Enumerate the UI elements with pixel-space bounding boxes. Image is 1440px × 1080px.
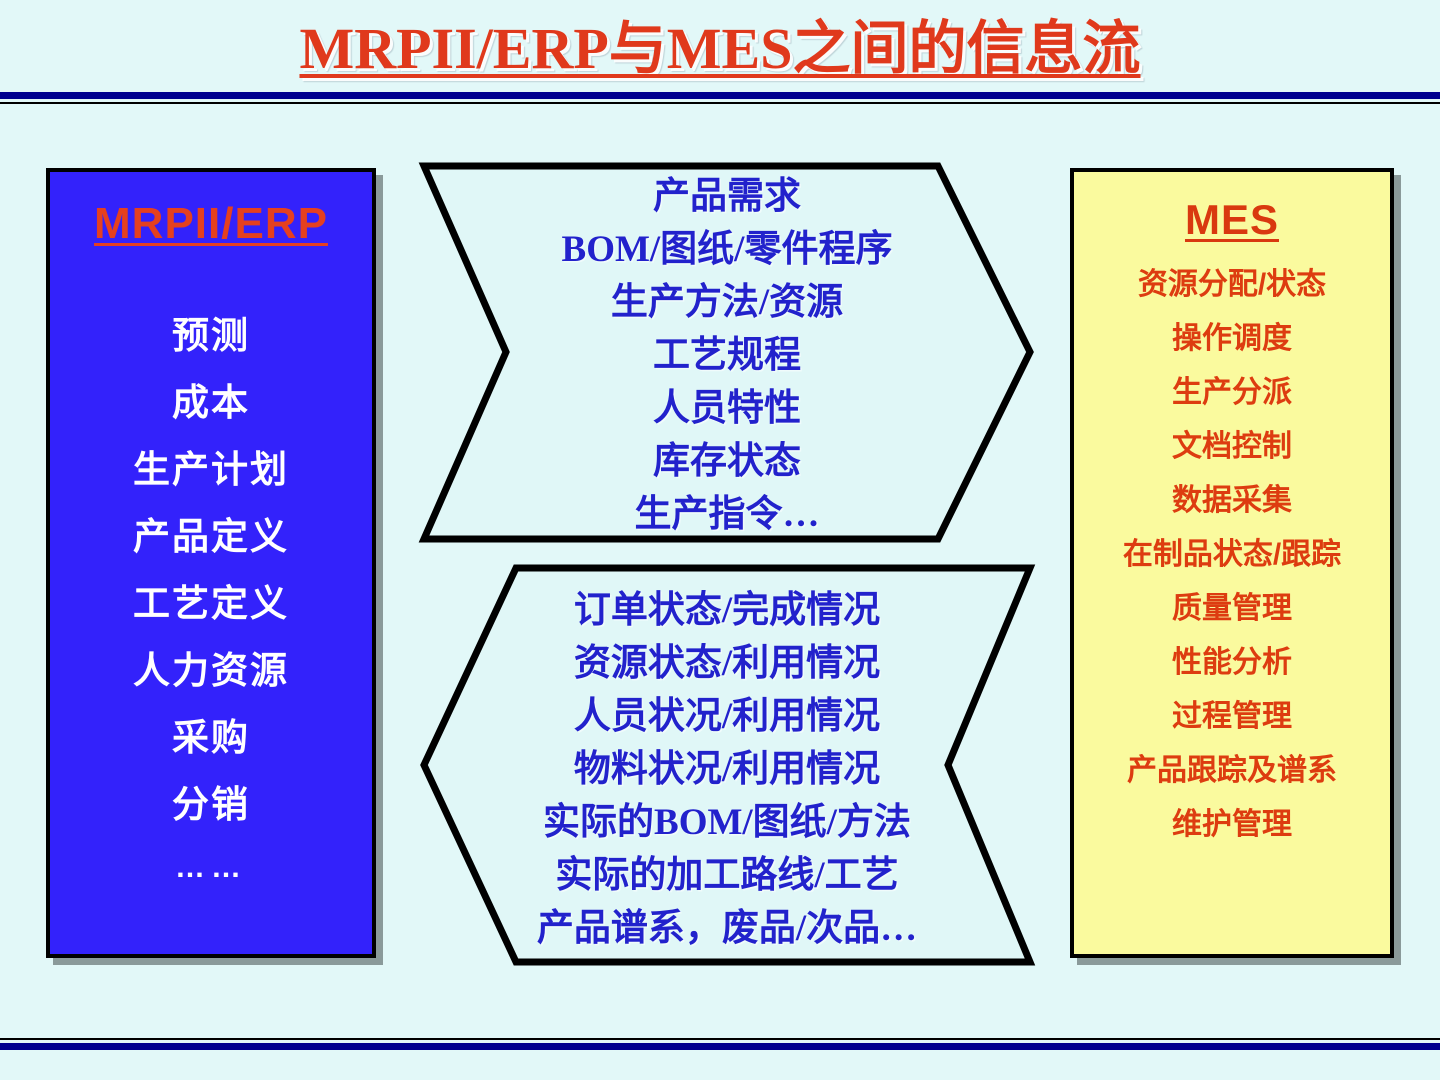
arrow-erp-to-mes-shape [418, 160, 1036, 545]
list-item: 性能分析 [1074, 636, 1390, 690]
mes-function-list: 资源分配/状态 操作调度 生产分派 文档控制 数据采集 在制品状态/跟踪 质量管… [1074, 258, 1390, 852]
arrow-mes-to-erp-shape [418, 562, 1036, 968]
list-item: 成本 [50, 369, 372, 436]
list-item: 文档控制 [1074, 420, 1390, 474]
header-rule-thick [0, 92, 1440, 99]
mrpii-erp-panel: MRPII/ERP 预测 成本 生产计划 产品定义 工艺定义 人力资源 采购 分… [46, 168, 376, 958]
arrow-erp-to-mes: 产品需求 BOM/图纸/零件程序 生产方法/资源 工艺规程 人员特性 库存状态 … [418, 160, 1036, 545]
footer-rule-thick [0, 1043, 1440, 1050]
slide-canvas: MRPII/ERP与MES之间的信息流 MRPII/ERP 预测 成本 生产计划… [0, 0, 1440, 1080]
mrpii-erp-heading: MRPII/ERP [50, 198, 372, 250]
list-item: 生产分派 [1074, 366, 1390, 420]
header-rule-thin [0, 102, 1440, 104]
mes-panel: MES 资源分配/状态 操作调度 生产分派 文档控制 数据采集 在制品状态/跟踪… [1070, 168, 1394, 958]
header-divider [0, 92, 1440, 104]
arrow-mes-to-erp: 订单状态/完成情况 资源状态/利用情况 人员状况/利用情况 物料状况/利用情况 … [418, 562, 1036, 968]
list-item: 产品定义 [50, 503, 372, 570]
list-item: 过程管理 [1074, 690, 1390, 744]
list-item: 人力资源 [50, 637, 372, 704]
list-item: 分销 [50, 771, 372, 838]
title-area: MRPII/ERP与MES之间的信息流 [0, 14, 1440, 90]
mrpii-erp-function-list: 预测 成本 生产计划 产品定义 工艺定义 人力资源 采购 分销 …… [50, 302, 372, 898]
list-item-ellipsis: …… [50, 838, 372, 898]
list-item: 生产计划 [50, 436, 372, 503]
page-title: MRPII/ERP与MES之间的信息流 [299, 14, 1140, 84]
list-item: 采购 [50, 704, 372, 771]
list-item: 资源分配/状态 [1074, 258, 1390, 312]
list-item: 操作调度 [1074, 312, 1390, 366]
list-item: 工艺定义 [50, 570, 372, 637]
list-item: 维护管理 [1074, 798, 1390, 852]
list-item: 产品跟踪及谱系 [1074, 744, 1390, 798]
list-item: 质量管理 [1074, 582, 1390, 636]
list-item: 预测 [50, 302, 372, 369]
list-item: 在制品状态/跟踪 [1074, 528, 1390, 582]
list-item: 数据采集 [1074, 474, 1390, 528]
footer-divider [0, 1038, 1440, 1050]
mes-heading: MES [1074, 194, 1390, 246]
